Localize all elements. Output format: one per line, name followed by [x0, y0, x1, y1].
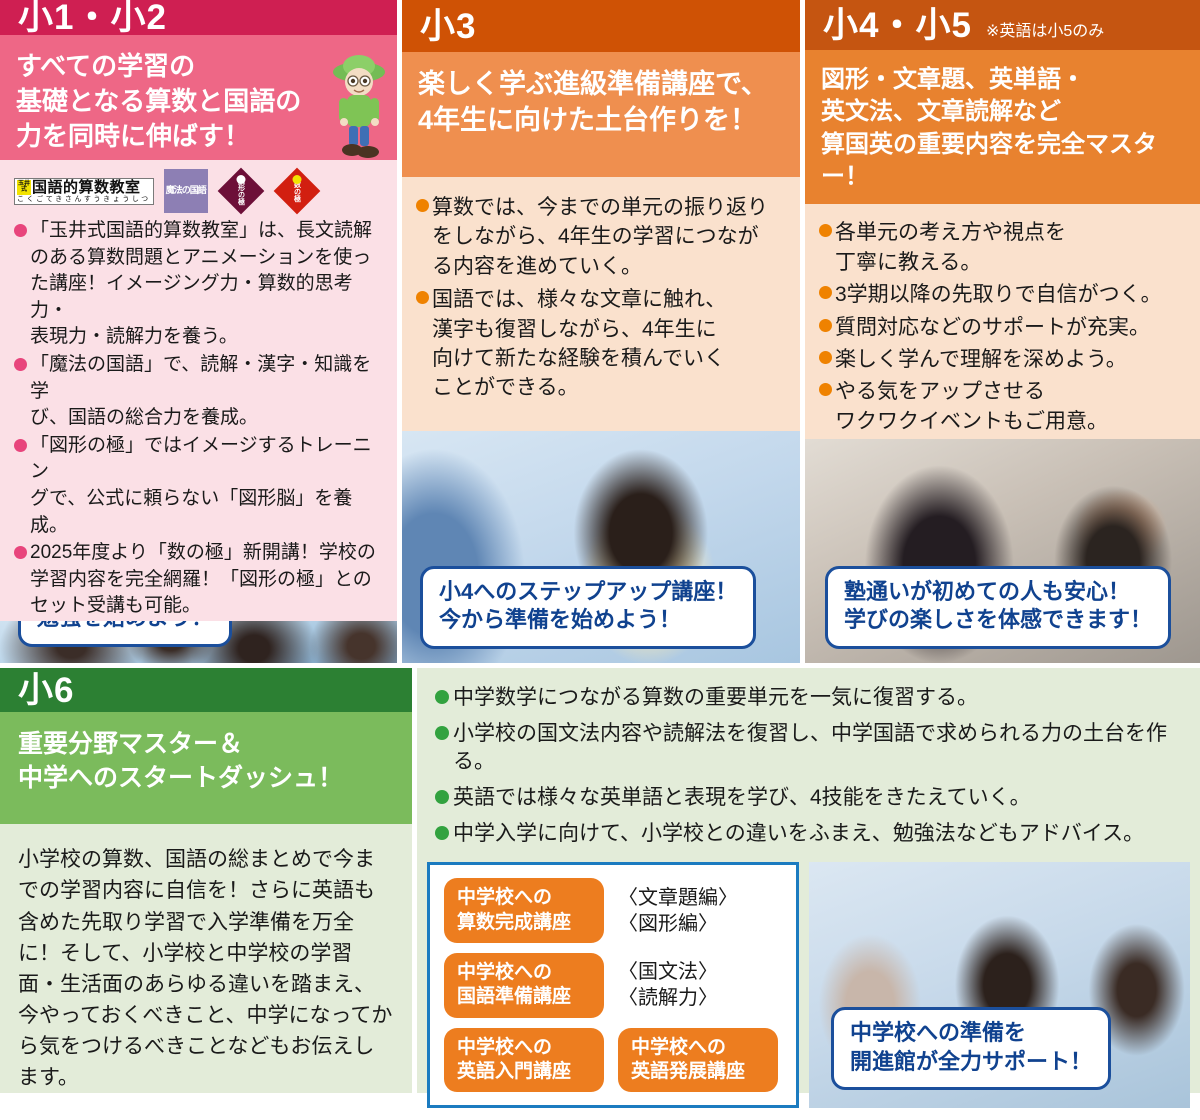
course-list-box: 中学校への 算数完成講座 〈文章題編〉 〈図形編〉 中学校への 国語準備講座 〈…	[427, 862, 799, 1108]
bullet-text: 「玉井式国語的算数教室」は、長文読解 のある算数問題とアニメーションを使っ た講…	[30, 218, 385, 351]
mascot-character-icon	[327, 46, 391, 164]
grade-label: 小3	[420, 9, 476, 44]
photo-smiling-boy-in-class: 小4へのステップアップ講座！ 今から準備を始めよう！	[402, 431, 800, 663]
course-row: 中学校への 算数完成講座 〈文章題編〉 〈図形編〉	[444, 878, 782, 943]
bullet-dot-icon	[819, 319, 832, 332]
bullet-dot-icon	[14, 546, 27, 559]
list-item: 楽しく学んで理解を深めよう。	[819, 345, 1188, 374]
list-item: 「魔法の国語」で、読解・漢字・知識を学 び、国語の総合力を養成。	[14, 352, 385, 432]
logo-label: 魔法の国語	[166, 186, 206, 195]
list-item: 英語では様々な英単語と表現を学び、4技能をきたえていく。	[435, 784, 1182, 811]
headline-block-3: 楽しく学ぶ進級準備講座で、 4年生に向けた土台作りを！	[402, 52, 800, 177]
bullet-text: 中学数学につながる算数の重要単元を一気に復習する。	[453, 684, 978, 711]
feature-bullet-list-3: 算数では、今までの単元の振り返り をしながら、4年生の学習につなが る内容を進め…	[402, 177, 800, 407]
photo-classroom-children-raising-hands: いっしょに楽しく 勉強を始めよう！	[0, 621, 397, 663]
grade-note: ※英語は小5のみ	[986, 17, 1104, 50]
grade-ribbon-3: 小3	[402, 0, 800, 52]
bullet-dot-icon	[435, 790, 449, 804]
grade-ribbon-4-5: 小4・小5 ※英語は小5のみ	[805, 0, 1200, 50]
top-panel-row: 小1・小2 すべての学習の 基礎となる算数と国語の 力を同時に伸ばす！	[0, 0, 1200, 663]
bullet-text: やる気をアップさせる ワクワクイベントもご用意。	[835, 377, 1108, 436]
bullet-dot-icon	[435, 826, 449, 840]
feature-bullet-list-6: 中学数学につながる算数の重要単元を一気に復習する。 小学校の国文法内容や読解法を…	[417, 668, 1200, 862]
bullet-text: 算数では、今までの単元の振り返り をしながら、4年生の学習につなが る内容を進め…	[432, 193, 768, 281]
logo-mahou-no-kokugo: 魔法の国語	[164, 169, 208, 213]
panel-grade-6-right: 中学数学につながる算数の重要単元を一気に復習する。 小学校の国文法内容や読解法を…	[417, 668, 1200, 1093]
bullet-dot-icon	[435, 726, 449, 740]
list-item: 各単元の考え方や視点を 丁寧に教える。	[819, 218, 1188, 277]
brochure-sheet: 小1・小2 すべての学習の 基礎となる算数と国語の 力を同時に伸ばす！	[0, 0, 1200, 1093]
bullet-text: 国語では、様々な文章に触れ、 漢字も復習しながら、4年生に 向けて新たな経験を積…	[432, 285, 726, 403]
grade-label: 小4・小5	[823, 8, 972, 43]
logo-dot-icon	[236, 175, 245, 184]
list-item: 「玉井式国語的算数教室」は、長文読解 のある算数問題とアニメーションを使っ た講…	[14, 218, 385, 351]
bullet-dot-icon	[14, 439, 27, 452]
bullet-dot-icon	[14, 358, 27, 371]
callout-bubble: いっしょに楽しく 勉強を始めよう！	[18, 621, 232, 647]
course-row: 中学校への 英語入門講座 中学校への 英語発展講座	[444, 1028, 782, 1093]
course-pill-english-intro[interactable]: 中学校への 英語入門講座	[444, 1028, 604, 1093]
list-item: 小学校の国文法内容や読解法を復習し、中学国語で求められる力の土台を作る。	[435, 720, 1182, 775]
logo-badge: 玉井式	[17, 180, 31, 195]
list-item: 中学数学につながる算数の重要単元を一気に復習する。	[435, 684, 1182, 711]
headline-text: 図形・文章題、英単語・ 英文法、文章読解など 算国英の重要内容を完全マスター！	[821, 64, 1184, 193]
course-pill-japanese[interactable]: 中学校への 国語準備講座	[444, 953, 604, 1018]
bottom-panel-row: 小6 重要分野マスター＆ 中学へのスタートダッシュ！ 小学校の算数、国語の総まと…	[0, 668, 1200, 1093]
bullet-text: 「魔法の国語」で、読解・漢字・知識を学 び、国語の総合力を養成。	[30, 352, 385, 432]
list-item: 2025年度より「数の極」新開講！学校の 学習内容を完全網羅！「図形の極」との …	[14, 540, 385, 620]
bullet-text: 小学校の国文法内容や読解法を復習し、中学国語で求められる力の土台を作る。	[453, 720, 1182, 775]
panel-6-lower-section: 中学校への 算数完成講座 〈文章題編〉 〈図形編〉 中学校への 国語準備講座 〈…	[417, 862, 1200, 1120]
bullet-text: 2025年度より「数の極」新開講！学校の 学習内容を完全網羅！「図形の極」との …	[30, 540, 376, 620]
grade-ribbon-1-2: 小1・小2	[0, 0, 397, 35]
list-item: 中学入学に向けて、小学校との違いをふまえ、勉強法などもアドバイス。	[435, 820, 1182, 847]
bullet-dot-icon	[435, 690, 449, 704]
bullet-text: 英語では様々な英単語と表現を学び、4技能をきたえていく。	[453, 784, 1031, 811]
course-pill-math[interactable]: 中学校への 算数完成講座	[444, 878, 604, 943]
bullet-text: 「図形の極」ではイメージするトレーニン グで、公式に頼らない「図形脳」を養成。	[30, 433, 385, 539]
bullet-text: 3学期以降の先取りで自信がつく。	[835, 280, 1162, 309]
panel-grade-1-2: 小1・小2 すべての学習の 基礎となる算数と国語の 力を同時に伸ばす！	[0, 0, 397, 663]
panel-6-body-text: 小学校の算数、国語の総まとめで今までの学習内容に自信を！さらに英語も含めた先取り…	[0, 824, 412, 1093]
bullet-dot-icon	[416, 199, 429, 212]
callout-bubble: 中学校への準備を 開進館が全力サポート！	[831, 1007, 1111, 1090]
feature-bullet-list-1-2: 「玉井式国語的算数教室」は、長文読解 のある算数問題とアニメーションを使っ た講…	[0, 216, 397, 621]
bullet-dot-icon	[819, 351, 832, 364]
panel-grade-3: 小3 楽しく学ぶ進級準備講座で、 4年生に向けた土台作りを！ 算数では、今までの…	[402, 0, 800, 663]
logo-kazu-no-kiwami: 数の極	[274, 168, 320, 214]
list-item: 算数では、今までの単元の振り返り をしながら、4年生の学習につなが る内容を進め…	[416, 193, 788, 281]
bullet-text: 各単元の考え方や視点を 丁寧に教える。	[835, 218, 1066, 277]
list-item: 質問対応などのサポートが充実。	[819, 313, 1188, 342]
headline-block-6: 重要分野マスター＆ 中学へのスタートダッシュ！	[0, 712, 412, 824]
bullet-dot-icon	[14, 224, 27, 237]
list-item: 「図形の極」ではイメージするトレーニン グで、公式に頼らない「図形脳」を養成。	[14, 433, 385, 539]
list-item: やる気をアップさせる ワクワクイベントもご用意。	[819, 377, 1188, 436]
callout-bubble: 塾通いが初めての人も安心！ 学びの楽しさを体感できます！	[825, 566, 1171, 649]
photo-students-studying-together: 中学校への準備を 開進館が全力サポート！	[809, 862, 1190, 1108]
logo-dot-icon	[292, 175, 301, 184]
logo-ruby-text: こくごてきさんすうきょうしつ	[17, 196, 151, 203]
callout-bubble: 小4へのステップアップ講座！ 今から準備を始めよう！	[420, 566, 756, 649]
bullet-dot-icon	[819, 224, 832, 237]
photo-teacher-helping-student: 塾通いが初めての人も安心！ 学びの楽しさを体感できます！	[805, 439, 1200, 663]
headline-block-4-5: 図形・文章題、英単語・ 英文法、文章読解など 算国英の重要内容を完全マスター！	[805, 50, 1200, 204]
feature-bullet-list-4-5: 各単元の考え方や視点を 丁寧に教える。 3学期以降の先取りで自信がつく。 質問対…	[805, 204, 1200, 439]
course-subtitle: 〈国文法〉 〈読解力〉	[618, 959, 718, 1011]
logo-zukei-no-kiwami: 図形の極	[218, 168, 264, 214]
grade-ribbon-6: 小6	[0, 668, 412, 712]
headline-text: 楽しく学ぶ進級準備講座で、 4年生に向けた土台作りを！	[418, 66, 784, 138]
grade-label: 小6	[18, 673, 74, 708]
course-pill-english-advanced[interactable]: 中学校への 英語発展講座	[618, 1028, 778, 1093]
headline-text: 重要分野マスター＆ 中学へのスタートダッシュ！	[18, 728, 394, 795]
panel-grade-6-left: 小6 重要分野マスター＆ 中学へのスタートダッシュ！ 小学校の算数、国語の総まと…	[0, 668, 412, 1093]
bullet-dot-icon	[819, 286, 832, 299]
course-subtitle: 〈文章題編〉 〈図形編〉	[618, 885, 738, 937]
bullet-dot-icon	[819, 383, 832, 396]
grade-label: 小1・小2	[18, 0, 167, 35]
logo-kokugoteki-sansu-kyoshitsu: 玉井式 国語的算数教室 こくごてきさんすうきょうしつ	[14, 178, 154, 205]
course-logo-row: 玉井式 国語的算数教室 こくごてきさんすうきょうしつ 魔法の国語 図形の極 数	[0, 160, 397, 216]
course-row: 中学校への 国語準備講座 〈国文法〉 〈読解力〉	[444, 953, 782, 1018]
bullet-text: 質問対応などのサポートが充実。	[835, 313, 1150, 342]
logo-main-text: 国語的算数教室	[32, 180, 141, 195]
list-item: 国語では、様々な文章に触れ、 漢字も復習しながら、4年生に 向けて新たな経験を積…	[416, 285, 788, 403]
bullet-text: 楽しく学んで理解を深めよう。	[835, 345, 1127, 374]
panel-grade-4-5: 小4・小5 ※英語は小5のみ 図形・文章題、英単語・ 英文法、文章読解など 算国…	[805, 0, 1200, 663]
bullet-text: 中学入学に向けて、小学校との違いをふまえ、勉強法などもアドバイス。	[453, 820, 1144, 847]
list-item: 3学期以降の先取りで自信がつく。	[819, 280, 1188, 309]
headline-block-1-2: すべての学習の 基礎となる算数と国語の 力を同時に伸ばす！	[0, 35, 397, 160]
bullet-dot-icon	[416, 291, 429, 304]
